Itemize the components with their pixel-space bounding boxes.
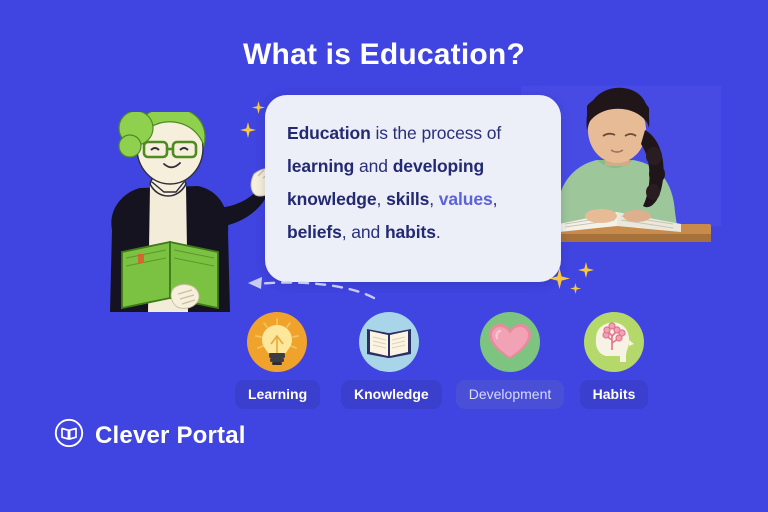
sparkle-icon: [570, 283, 581, 294]
lightbulb-icon: [247, 312, 307, 372]
badge-learning[interactable]: Learning: [235, 312, 319, 409]
page-title: What is Education?: [0, 38, 768, 72]
brand-name: Clever Portal: [95, 422, 246, 450]
badge-label: Development: [456, 380, 565, 409]
badge-knowledge[interactable]: Knowledge: [341, 312, 437, 409]
sparkle-icon: [549, 268, 570, 289]
sparkle-icon: [252, 101, 265, 114]
definition-text: Education is the process of learning and…: [287, 117, 545, 249]
badge-label: Knowledge: [341, 380, 442, 409]
open-book-icon: [359, 312, 419, 372]
category-badge-row: Learning Knowledge: [235, 312, 655, 410]
badge-habits[interactable]: Habits: [573, 312, 655, 409]
circled-open-book-icon: [54, 418, 84, 453]
brain-head-icon: [584, 312, 644, 372]
badge-development[interactable]: Development: [455, 312, 565, 409]
heart-icon: [480, 312, 540, 372]
speech-bubble: Education is the process of learning and…: [265, 95, 561, 282]
badge-label: Learning: [235, 380, 320, 409]
infographic-canvas: What is Education?: [0, 0, 768, 512]
badge-label: Habits: [580, 380, 649, 409]
dashed-curved-arrow-left-icon: [238, 272, 378, 308]
sparkle-icon: [578, 262, 594, 278]
brand-logo[interactable]: Clever Portal: [54, 418, 246, 453]
sparkle-icon: [240, 122, 256, 138]
